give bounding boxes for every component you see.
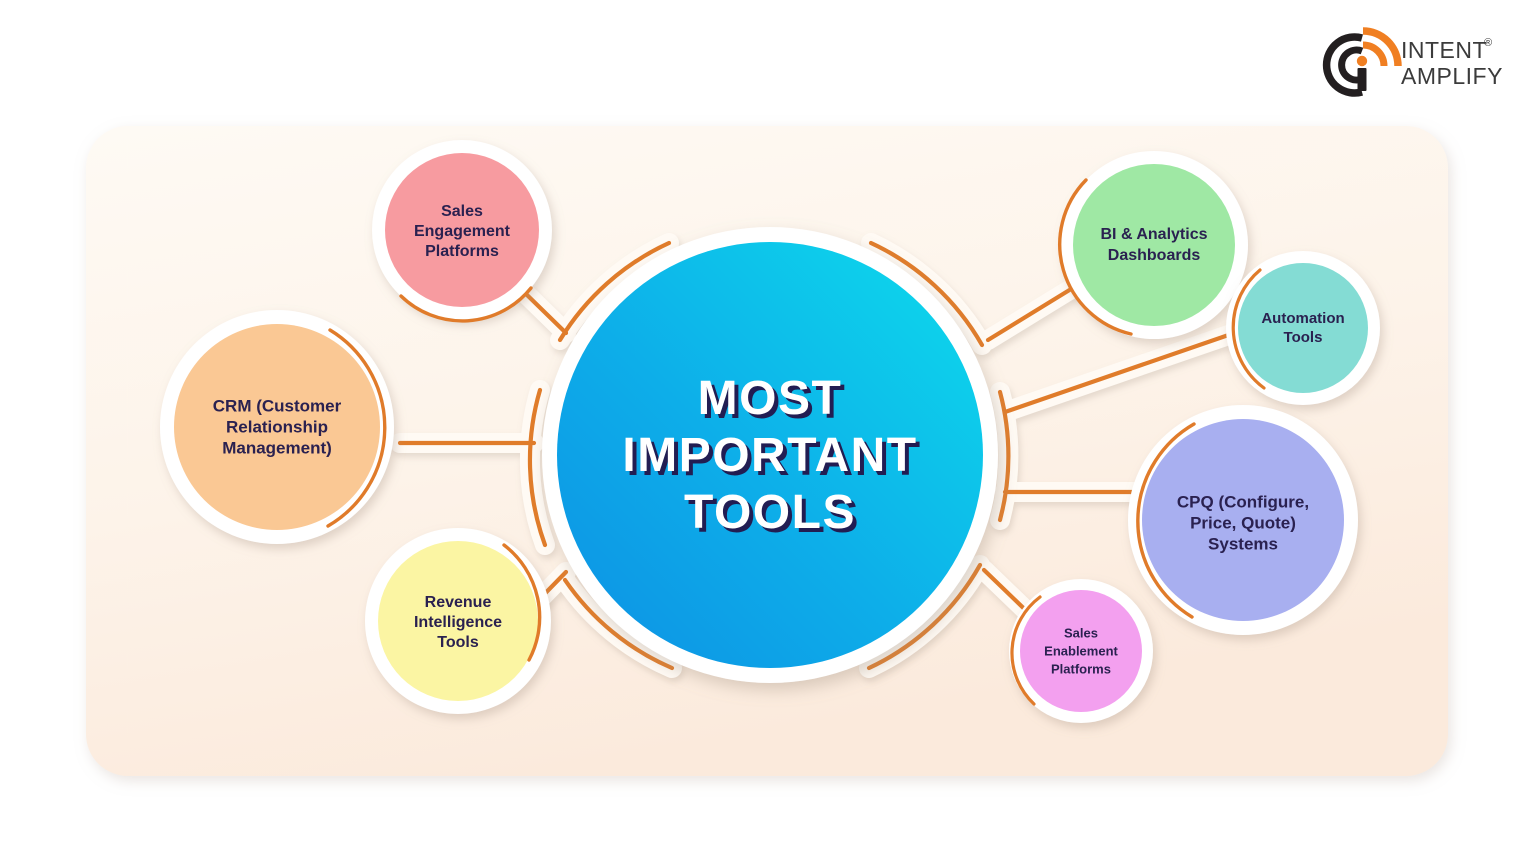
brand-name-line1: INTENT	[1401, 37, 1487, 63]
node-sales-enablement-platforms[interactable]: Sales Enablement Platforms	[1009, 579, 1153, 723]
node-label-line2: Relationship	[226, 417, 328, 436]
node-bi-analytics-dashboards[interactable]: BI & Analytics Dashboards	[1060, 151, 1248, 339]
hub-title-line3: TOOLS	[684, 486, 856, 539]
node-label-line2: Price, Quote)	[1190, 513, 1296, 532]
hub-node[interactable]: MOST MOST IMPORTANT IMPORTANT TOOLS TOOL…	[542, 227, 998, 683]
node-circle	[1073, 164, 1235, 326]
node-label-line1: BI & Analytics	[1101, 226, 1208, 243]
node-label-line1: Automation	[1261, 310, 1344, 327]
brand-logo[interactable]: INTENT ® AMPLIFY	[1327, 31, 1503, 93]
brand-registered-mark: ®	[1484, 37, 1493, 49]
node-label-line3: Platforms	[425, 243, 499, 260]
signal-waves-icon	[1327, 31, 1398, 93]
node-label-line3: Tools	[437, 634, 479, 651]
node-automation-tools[interactable]: Automation Tools	[1226, 251, 1380, 405]
node-label-line2: Tools	[1284, 329, 1323, 346]
node-label-line1: Revenue	[425, 594, 492, 611]
node-label-line2: Intelligence	[414, 614, 502, 631]
node-crm[interactable]: CRM (Customer Relationship Management)	[160, 310, 394, 544]
node-sales-engagement-platforms[interactable]: Sales Engagement Platforms	[372, 140, 552, 321]
hub-title-line2: IMPORTANT	[622, 429, 917, 482]
node-label-line1: Sales	[1064, 625, 1098, 640]
node-label-line1: CRM (Customer	[213, 396, 342, 415]
node-label-line2: Engagement	[414, 223, 511, 240]
node-cpq-systems[interactable]: CPQ (Configure, Price, Quote) Systems	[1128, 405, 1358, 635]
node-label-line2: Dashboards	[1108, 247, 1201, 264]
node-label-line2: Enablement	[1044, 643, 1118, 658]
infographic-canvas: MOST MOST IMPORTANT IMPORTANT TOOLS TOOL…	[0, 0, 1536, 864]
node-label-line3: Platforms	[1051, 661, 1111, 676]
brand-name-line2: AMPLIFY	[1401, 63, 1503, 89]
hub-title-line1: MOST	[698, 372, 843, 425]
node-revenue-intelligence-tools[interactable]: Revenue Intelligence Tools	[365, 528, 551, 714]
node-label-line3: Systems	[1208, 534, 1278, 553]
node-label-line3: Management)	[222, 438, 332, 457]
node-label-line1: Sales	[441, 203, 483, 220]
node-label-line1: CPQ (Configure,	[1177, 492, 1309, 511]
